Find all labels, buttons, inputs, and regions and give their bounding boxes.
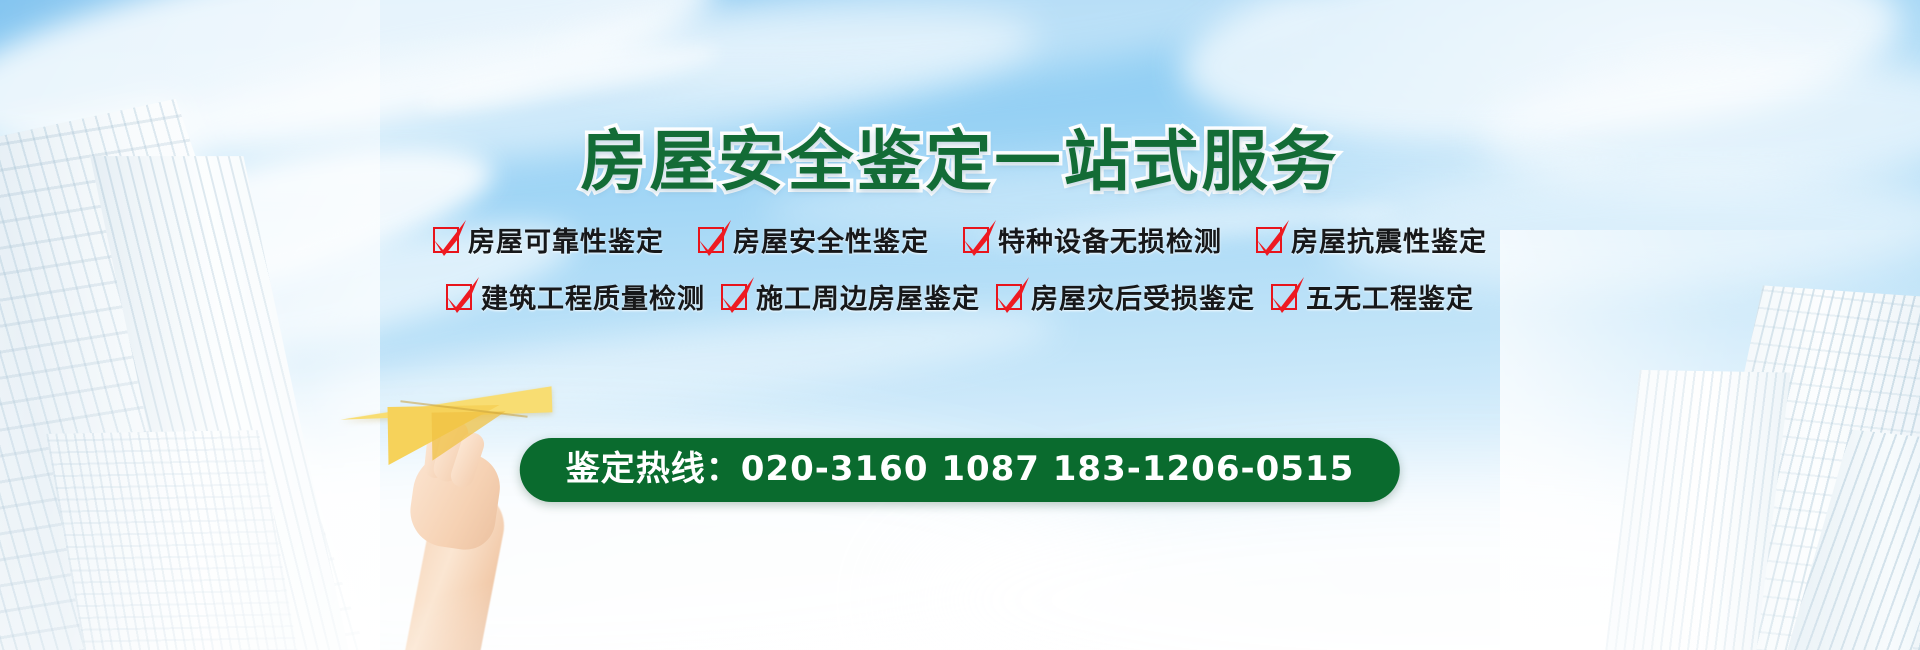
feature-item: 房屋灾后受损鉴定 [996, 277, 1255, 316]
hotline-label: 鉴定热线：020-3160 1087 183-1206-0515 [566, 452, 1354, 486]
check-icon [446, 284, 472, 310]
check-icon [963, 227, 989, 253]
feature-label: 特种设备无损检测 [998, 220, 1222, 259]
feature-row-1: 房屋可靠性鉴定 房屋安全性鉴定 [0, 220, 1920, 259]
feature-label: 五无工程鉴定 [1306, 277, 1474, 316]
feature-list: 房屋可靠性鉴定 房屋安全性鉴定 [0, 220, 1920, 334]
feature-item: 房屋可靠性鉴定 [433, 220, 664, 259]
check-icon [1271, 284, 1297, 310]
check-icon [433, 227, 459, 253]
feature-item: 建筑工程质量检测 [446, 277, 705, 316]
feature-label: 房屋可靠性鉴定 [468, 220, 664, 259]
feature-label: 房屋灾后受损鉴定 [1031, 277, 1255, 316]
feature-label: 房屋抗震性鉴定 [1291, 220, 1487, 259]
feature-item: 房屋抗震性鉴定 [1256, 220, 1487, 259]
feature-label: 建筑工程质量检测 [481, 277, 705, 316]
feature-item: 施工周边房屋鉴定 [721, 277, 980, 316]
banner-content: 房屋安全鉴定一站式服务 房屋可靠性鉴定 [0, 0, 1920, 650]
hotline-button[interactable]: 鉴定热线：020-3160 1087 183-1206-0515 [520, 438, 1400, 502]
page-title: 房屋安全鉴定一站式服务 [0, 108, 1920, 204]
check-icon [1256, 227, 1282, 253]
check-icon [996, 284, 1022, 310]
feature-item: 房屋安全性鉴定 [698, 220, 929, 259]
check-icon [721, 284, 747, 310]
check-icon [698, 227, 724, 253]
feature-item: 五无工程鉴定 [1271, 277, 1474, 316]
feature-label: 房屋安全性鉴定 [733, 220, 929, 259]
feature-row-2: 建筑工程质量检测 施工周边房屋鉴定 [0, 277, 1920, 316]
feature-label: 施工周边房屋鉴定 [756, 277, 980, 316]
hero-banner: 房屋安全鉴定一站式服务 房屋可靠性鉴定 [0, 0, 1920, 650]
feature-item: 特种设备无损检测 [963, 220, 1222, 259]
